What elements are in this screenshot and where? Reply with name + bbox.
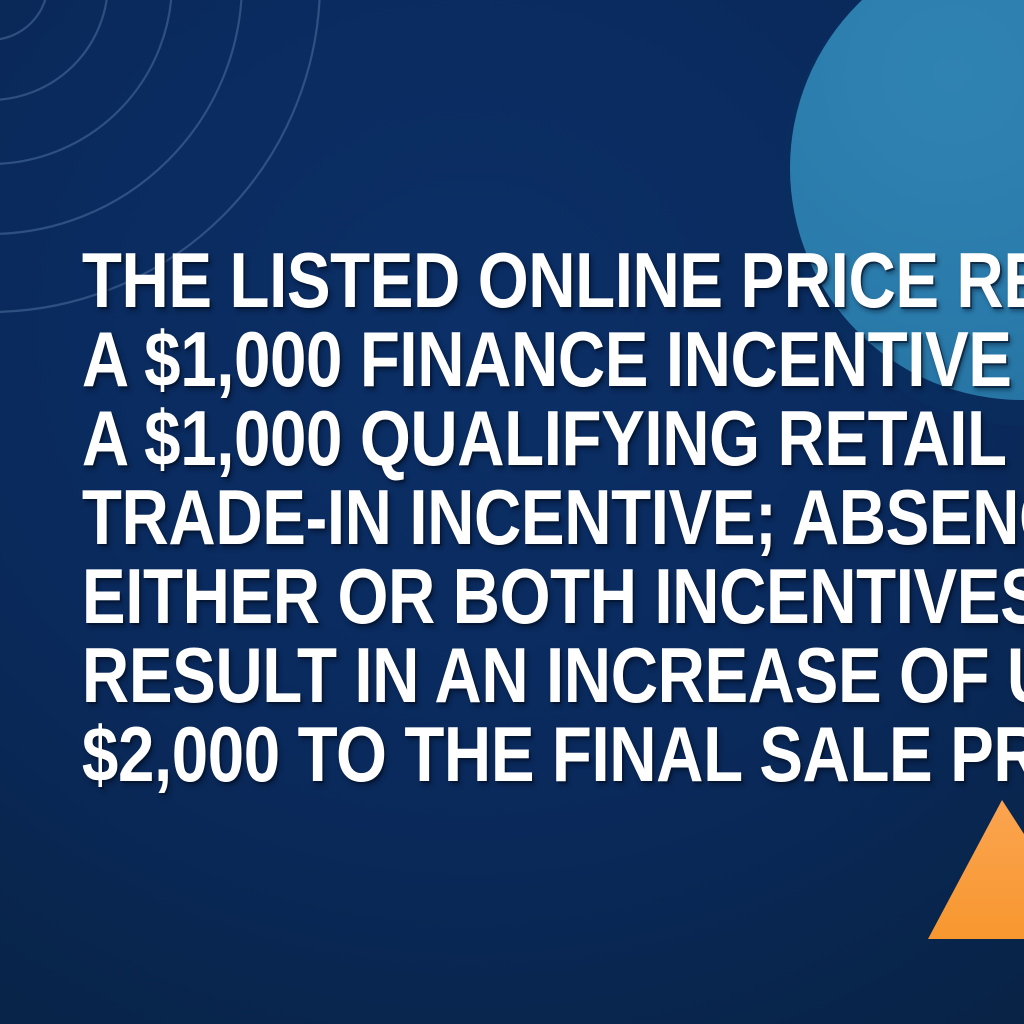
decorative-shapes-layer (0, 0, 1024, 1024)
concentric-arc-rings (0, 0, 320, 312)
promotional-disclaimer-card: THE LISTED ONLINE PRICE REFLECTS A $1,00… (0, 0, 1024, 1024)
orange-triangle (928, 800, 1024, 939)
light-blue-circle (790, 0, 1024, 400)
